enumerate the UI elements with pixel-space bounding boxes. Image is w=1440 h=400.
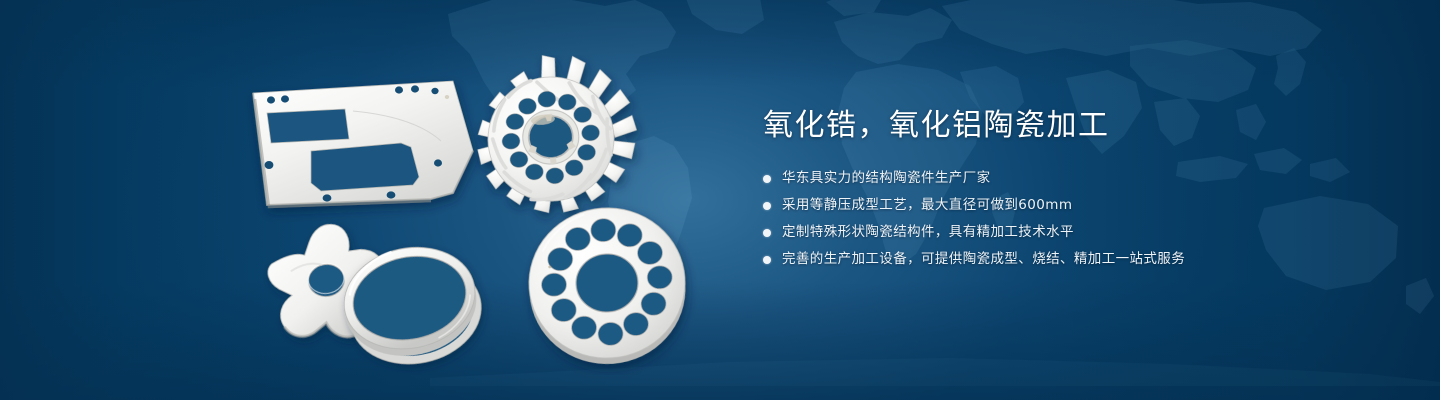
ceramic-products-photo: [235, 55, 705, 375]
list-item-label: 采用等静压成型工艺，最大直径可做到600mm: [782, 196, 1072, 215]
banner-copy: 氧化锆，氧化铝陶瓷加工 华东具实力的结构陶瓷件生产厂家 采用等静压成型工艺，最大…: [763, 106, 1383, 277]
list-item-label: 完善的生产加工设备，可提供陶瓷成型、烧结、精加工一站式服务: [782, 250, 1185, 269]
ceramic-processing-banner: 氧化锆，氧化铝陶瓷加工 华东具实力的结构陶瓷件生产厂家 采用等静压成型工艺，最大…: [0, 0, 1440, 400]
feature-list: 华东具实力的结构陶瓷件生产厂家 采用等静压成型工艺，最大直径可做到600mm 定…: [763, 169, 1383, 269]
ceramic-impeller-part: [469, 55, 645, 220]
list-item: 定制特殊形状陶瓷结构件，具有精加工技术水平: [763, 223, 1383, 242]
list-item-label: 华东具实力的结构陶瓷件生产厂家: [782, 169, 991, 188]
bullet-dot-icon: [763, 175, 771, 183]
list-item-label: 定制特殊形状陶瓷结构件，具有精加工技术水平: [782, 223, 1074, 242]
ceramic-plate-part: [253, 81, 473, 207]
list-item: 采用等静压成型工艺，最大直径可做到600mm: [763, 196, 1383, 215]
list-item: 完善的生产加工设备，可提供陶瓷成型、烧结、精加工一站式服务: [763, 250, 1383, 269]
bullet-dot-icon: [763, 202, 771, 210]
bullet-dot-icon: [763, 229, 771, 237]
bullet-dot-icon: [763, 256, 771, 264]
list-item: 华东具实力的结构陶瓷件生产厂家: [763, 169, 1383, 188]
ceramic-perforated-disc-part: [524, 203, 691, 370]
page-title: 氧化锆，氧化铝陶瓷加工: [763, 106, 1383, 146]
